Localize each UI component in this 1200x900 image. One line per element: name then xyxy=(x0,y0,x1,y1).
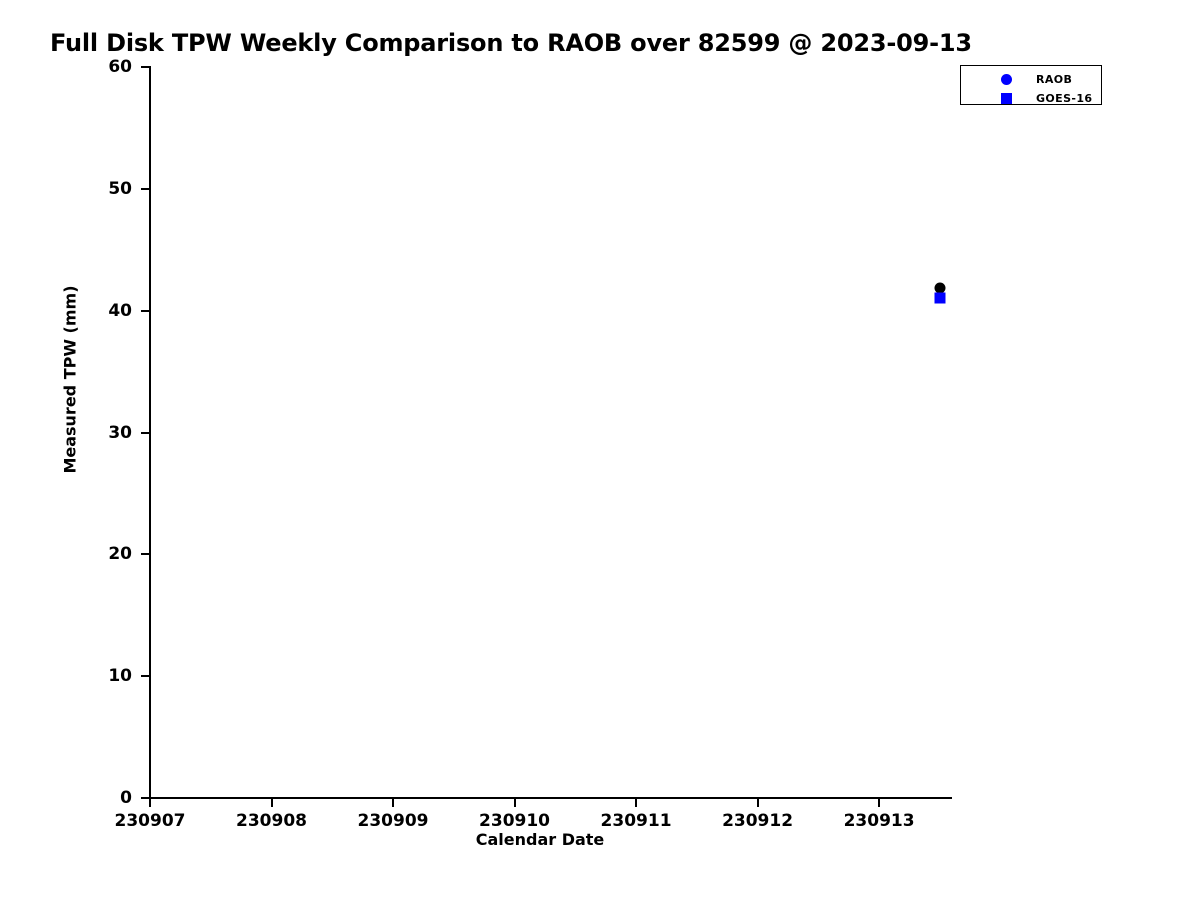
x-tick-mark xyxy=(271,798,273,807)
legend-entry: RAOB xyxy=(961,70,1101,90)
legend-entry: GOES-16 xyxy=(961,89,1101,109)
plot-area: 0102030405060 23090723090823090923091023… xyxy=(150,67,952,798)
x-tick-label: 230910 xyxy=(479,811,550,831)
x-tick-mark xyxy=(149,798,151,807)
x-axis-label: Calendar Date xyxy=(0,830,1080,849)
data-point-goes-16 xyxy=(934,293,945,304)
legend-label: GOES-16 xyxy=(1036,92,1093,105)
legend-marker-circle-icon xyxy=(1001,74,1012,85)
x-tick-label: 230909 xyxy=(358,811,429,831)
x-tick-label: 230913 xyxy=(844,811,915,831)
x-tick-label: 230908 xyxy=(236,811,307,831)
x-tick-label: 230911 xyxy=(601,811,672,831)
y-tick-mark xyxy=(141,188,150,190)
x-tick-mark xyxy=(514,798,516,807)
y-tick-label: 0 xyxy=(50,788,132,808)
chart-title: Full Disk TPW Weekly Comparison to RAOB … xyxy=(50,29,972,57)
x-tick-mark xyxy=(635,798,637,807)
y-tick-mark xyxy=(141,310,150,312)
y-tick-mark xyxy=(141,66,150,68)
y-tick-mark xyxy=(141,675,150,677)
x-tick-mark xyxy=(392,798,394,807)
y-tick-mark xyxy=(141,553,150,555)
y-tick-mark xyxy=(141,432,150,434)
x-tick-mark xyxy=(878,798,880,807)
chart-legend: RAOBGOES-16 xyxy=(960,65,1102,105)
legend-marker-square-icon xyxy=(1001,93,1012,104)
x-tick-label: 230912 xyxy=(722,811,793,831)
legend-label: RAOB xyxy=(1036,73,1072,86)
x-tick-mark xyxy=(757,798,759,807)
chart-figure: Full Disk TPW Weekly Comparison to RAOB … xyxy=(0,0,1200,900)
data-point-raob xyxy=(934,282,945,293)
y-axis-label: Measured TPW (mm) xyxy=(61,10,80,750)
x-tick-label: 230907 xyxy=(115,811,186,831)
